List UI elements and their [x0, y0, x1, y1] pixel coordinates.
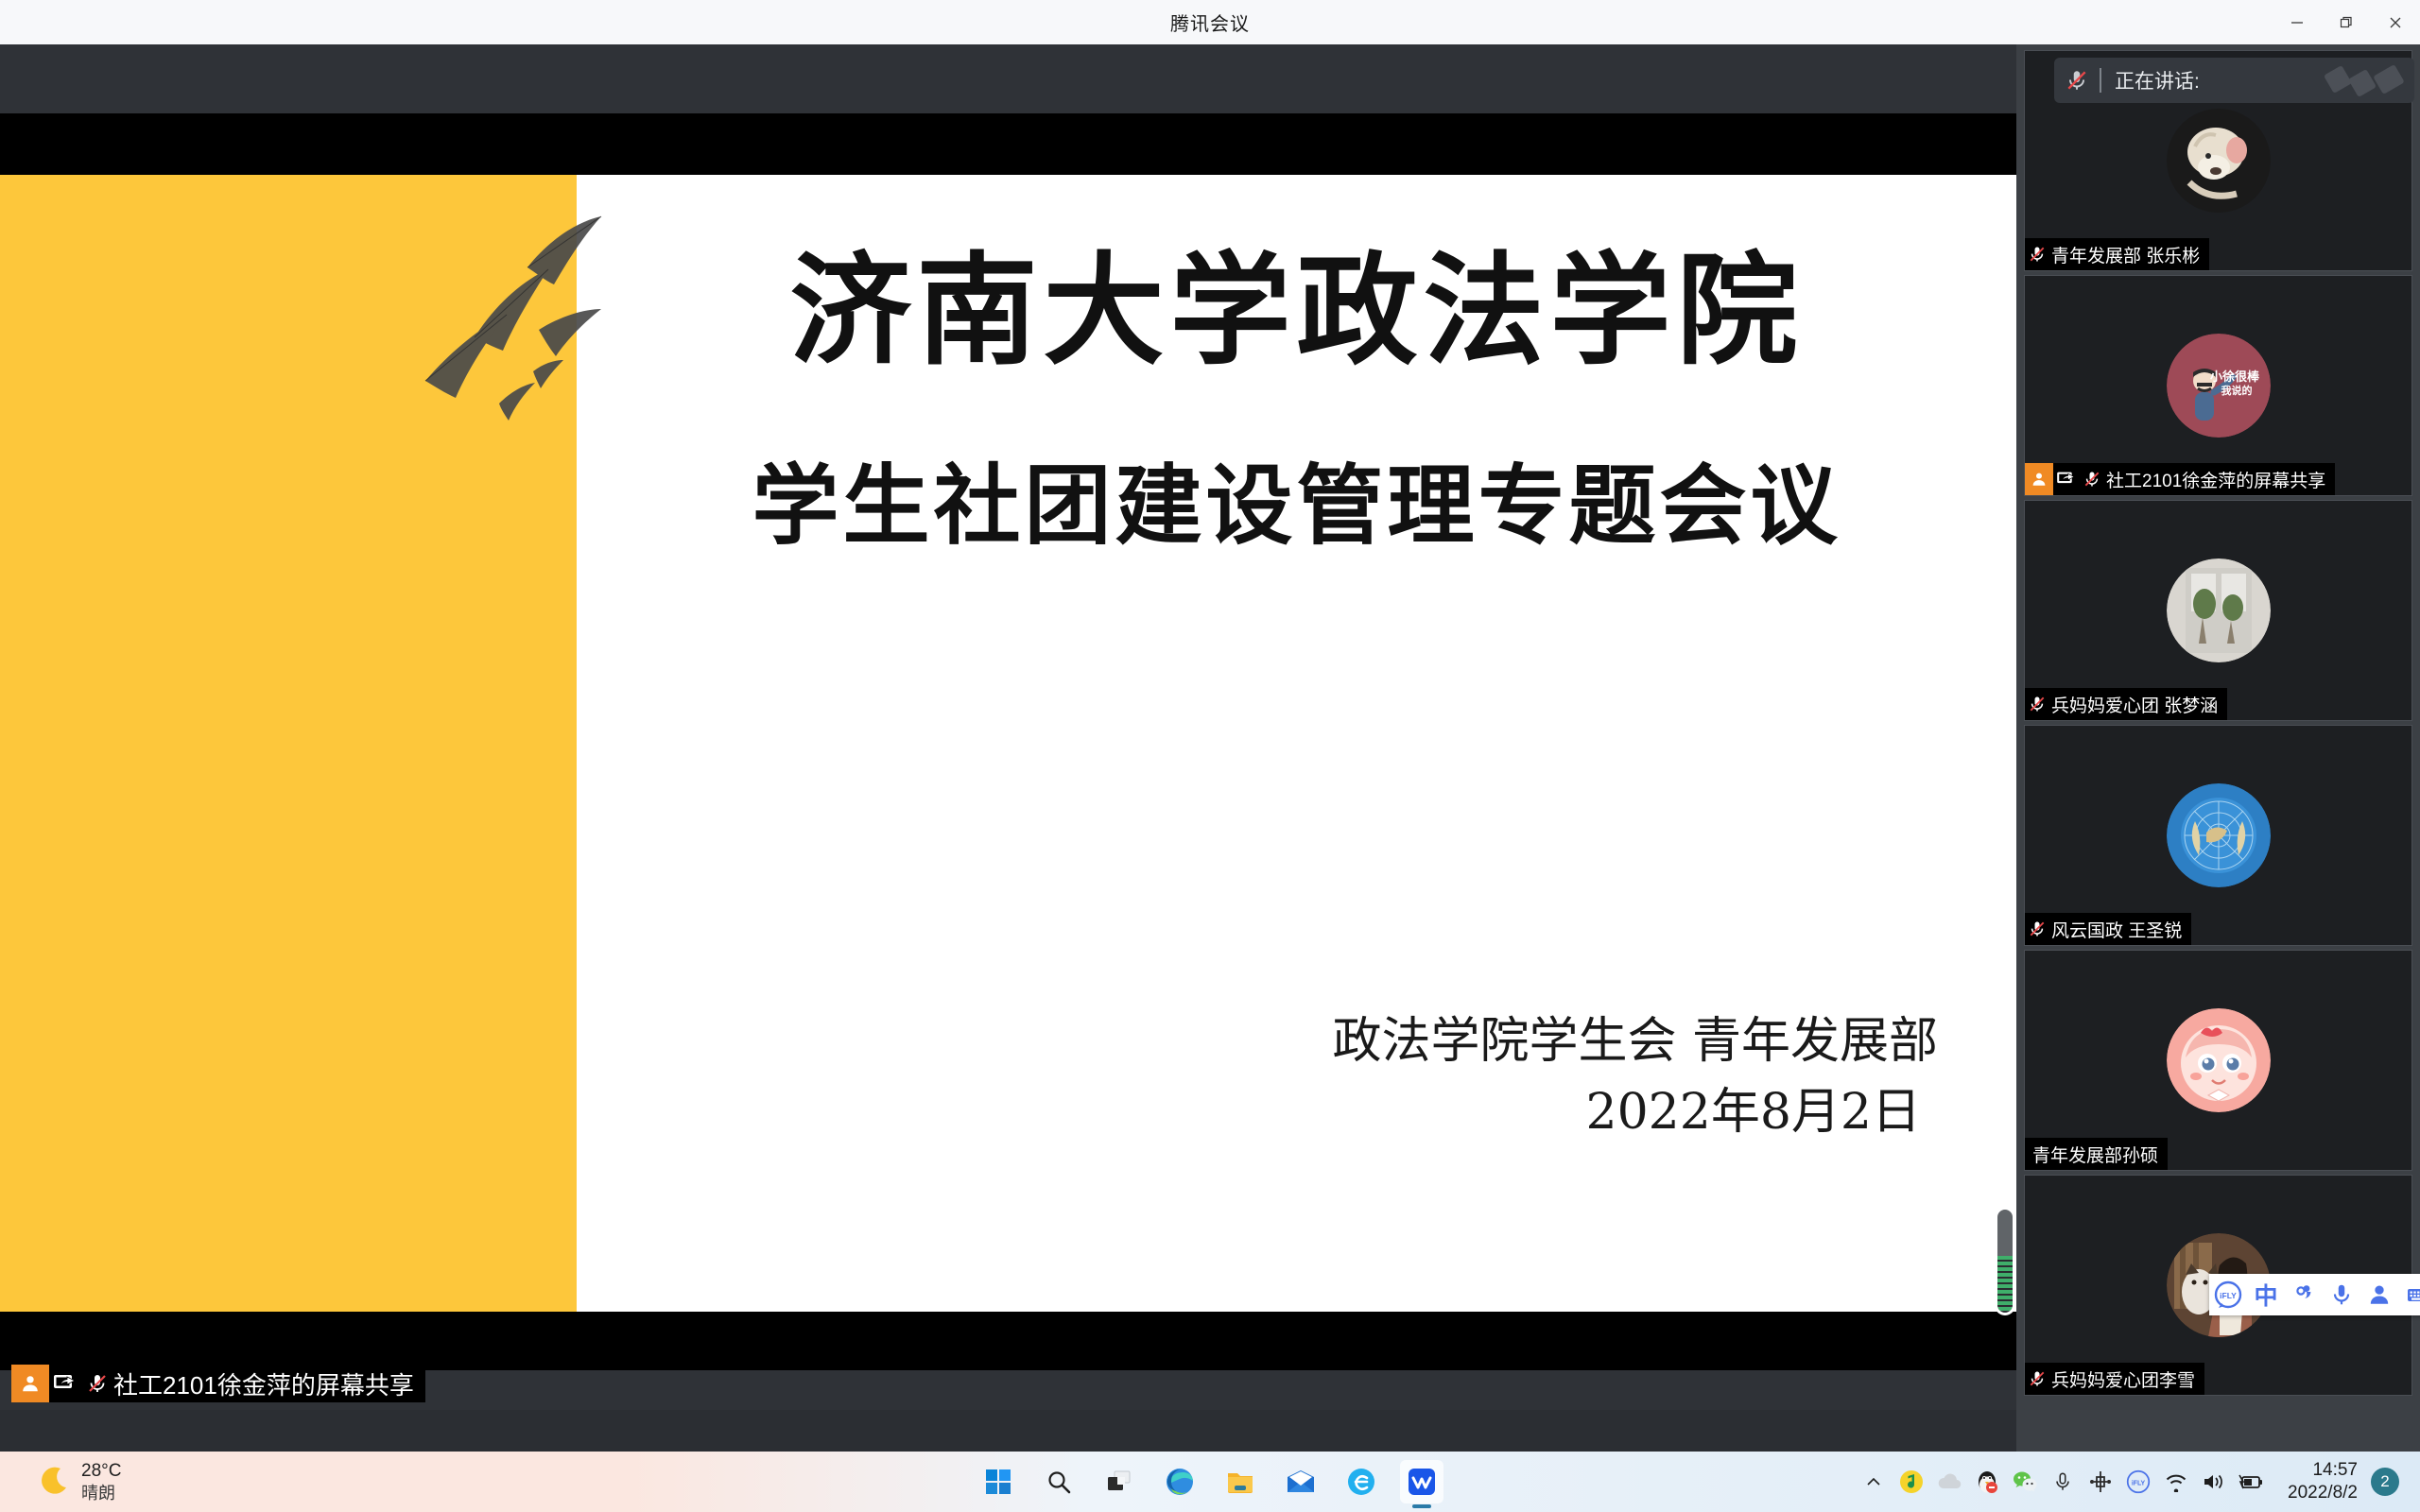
- avatar: [2167, 783, 2271, 887]
- participant-name: 风云国政 王圣锐: [2049, 917, 2191, 942]
- system-tray: iFLY: [1855, 1452, 2420, 1512]
- wechat-tray-icon[interactable]: [2006, 1452, 2044, 1512]
- slide-footer-org: 政法学院学生会 青年发展部: [577, 1006, 1938, 1077]
- weather-widget[interactable]: 28°C 晴朗: [28, 1452, 130, 1512]
- browser-2345-button[interactable]: [1340, 1460, 1383, 1503]
- voice-input-icon[interactable]: [2323, 1274, 2360, 1315]
- weather-temperature: 28°C: [81, 1460, 121, 1483]
- meeting-body: 济南大学政法学院 学生社团建设管理专题会议 政法学院学生会 青年发展部 2022…: [0, 44, 2420, 1452]
- svg-text:iFLY: iFLY: [2220, 1291, 2237, 1300]
- user-icon[interactable]: [2360, 1274, 2398, 1315]
- participant-rail[interactable]: 青年发展部 张乐彬 小徐很棒: [2016, 44, 2420, 1452]
- svg-text:iFLY: iFLY: [2132, 1480, 2146, 1486]
- share-banner-label: 社工2101徐金萍的屏幕共享: [113, 1366, 425, 1401]
- kugou-music-tray-icon[interactable]: [1893, 1452, 1930, 1512]
- speaking-banner-label: 正在讲话:: [2101, 66, 2200, 94]
- participant-tile[interactable]: 青年发展部孙硕: [2024, 950, 2412, 1171]
- search-button[interactable]: [1037, 1460, 1080, 1503]
- participant-nametag: 青年发展部孙硕: [2025, 1138, 2168, 1170]
- avatar: [2167, 558, 2271, 662]
- participant-tile[interactable]: 小徐很棒 我说的: [2024, 275, 2412, 496]
- volume-button[interactable]: [2195, 1452, 2233, 1512]
- participant-name: 青年发展部孙硕: [2025, 1142, 2168, 1167]
- microphone-tray-icon[interactable]: [2044, 1452, 2082, 1512]
- window-title-bar: 腾讯会议: [0, 0, 2420, 44]
- crescent-moon-icon: [38, 1466, 70, 1498]
- punctuation-icon[interactable]: [2285, 1274, 2323, 1315]
- network-button[interactable]: [2157, 1452, 2195, 1512]
- mic-muted-icon: [2025, 688, 2049, 720]
- ifly-input-toolbar[interactable]: iFLY 中: [2209, 1274, 2420, 1315]
- avatar: [2167, 1008, 2271, 1112]
- screen-share-icon: [2053, 463, 2080, 495]
- voice-level-fill: [1997, 1256, 2013, 1313]
- host-person-icon: [2025, 463, 2053, 495]
- voice-level-track: [1997, 1210, 2013, 1313]
- close-button[interactable]: [2371, 0, 2420, 44]
- tencent-meeting-button[interactable]: [1400, 1460, 1443, 1503]
- speaking-banner: 正在讲话:: [2054, 58, 2414, 103]
- taskbar-apps: [977, 1452, 1443, 1512]
- participant-nametag: 兵妈妈爱心团李雪: [2025, 1363, 2204, 1395]
- avatar: 小徐很棒 我说的: [2167, 334, 2271, 438]
- show-hidden-icons-button[interactable]: [1855, 1452, 1893, 1512]
- host-person-icon: [11, 1365, 49, 1402]
- edge-button[interactable]: [1158, 1460, 1201, 1503]
- participant-name: 兵妈妈爱心团李雪: [2049, 1366, 2204, 1392]
- tencent-meeting-window: 腾讯会议: [0, 0, 2420, 1512]
- speaking-banner-decoration: [2324, 61, 2409, 99]
- clock-time: 14:57: [2288, 1459, 2358, 1482]
- ifly-logo-icon[interactable]: iFLY: [2209, 1274, 2247, 1315]
- clock-date: 2022/8/2: [2288, 1482, 2358, 1504]
- svg-text:我说的: 我说的: [2221, 384, 2252, 397]
- qq-tray-icon[interactable]: [1968, 1452, 2006, 1512]
- task-view-button[interactable]: [1098, 1460, 1141, 1503]
- mic-muted-icon: [81, 1365, 113, 1402]
- shared-screen-stage[interactable]: 济南大学政法学院 学生社团建设管理专题会议 政法学院学生会 青年发展部 2022…: [0, 44, 2016, 1410]
- participant-nametag: 社工2101徐金萍的屏幕共享: [2025, 463, 2335, 495]
- participant-tile[interactable]: 兵妈妈爱心团 张梦涵: [2024, 500, 2412, 721]
- file-explorer-button[interactable]: [1219, 1460, 1262, 1503]
- slide-title: 济南大学政法学院: [577, 246, 2016, 376]
- mic-muted-icon: [2025, 238, 2049, 270]
- taskbar-clock[interactable]: 14:57 2022/8/2: [2271, 1459, 2371, 1504]
- battery-button[interactable]: [2233, 1452, 2271, 1512]
- participant-nametag: 风云国政 王圣锐: [2025, 913, 2191, 945]
- participant-nametag: 兵妈妈爱心团 张梦涵: [2025, 688, 2227, 720]
- ifly-tray-icon[interactable]: iFLY: [2119, 1452, 2157, 1512]
- window-controls: [2273, 0, 2420, 44]
- notification-badge[interactable]: 2: [2371, 1468, 2399, 1496]
- participant-name: 兵妈妈爱心团 张梦涵: [2049, 692, 2227, 717]
- mail-button[interactable]: [1279, 1460, 1322, 1503]
- keyboard-icon[interactable]: [2398, 1274, 2420, 1315]
- mic-muted-icon: [2080, 463, 2104, 495]
- cloud-tray-icon[interactable]: [1930, 1452, 1968, 1512]
- participant-name: 社工2101徐金萍的屏幕共享: [2104, 467, 2335, 492]
- weather-condition: 晴朗: [81, 1483, 121, 1504]
- svg-text:小徐很棒: 小徐很棒: [2209, 369, 2259, 385]
- mic-muted-icon: [2025, 913, 2049, 945]
- slide-footer-date: 2022年8月2日: [577, 1077, 1938, 1148]
- screen-share-icon: [49, 1365, 81, 1402]
- windows-taskbar: 28°C 晴朗: [0, 1452, 2420, 1512]
- avatar: [2167, 109, 2271, 213]
- window-title: 腾讯会议: [1170, 9, 1250, 36]
- mic-muted-icon: [2025, 1363, 2049, 1395]
- presentation-slide: 济南大学政法学院 学生社团建设管理专题会议 政法学院学生会 青年发展部 2022…: [0, 175, 2016, 1312]
- mic-muted-icon: [2054, 68, 2100, 93]
- participant-tile[interactable]: 风云国政 王圣锐: [2024, 725, 2412, 946]
- share-banner: 社工2101徐金萍的屏幕共享: [11, 1365, 425, 1402]
- restore-button[interactable]: [2322, 0, 2371, 44]
- weather-text: 28°C 晴朗: [81, 1460, 121, 1503]
- slide-footer: 政法学院学生会 青年发展部 2022年8月2日: [577, 1006, 1938, 1149]
- minimize-button[interactable]: [2273, 0, 2322, 44]
- slide-subtitle: 学生社团建设管理专题会议: [577, 458, 2016, 554]
- participant-name: 青年发展部 张乐彬: [2049, 242, 2209, 267]
- start-button[interactable]: [977, 1460, 1020, 1503]
- participant-nametag: 青年发展部 张乐彬: [2025, 238, 2209, 270]
- chinese-mode-icon[interactable]: 中: [2247, 1274, 2285, 1315]
- voice-level-indicator[interactable]: [1995, 1207, 2015, 1315]
- ime-tray-icon[interactable]: [2082, 1452, 2119, 1512]
